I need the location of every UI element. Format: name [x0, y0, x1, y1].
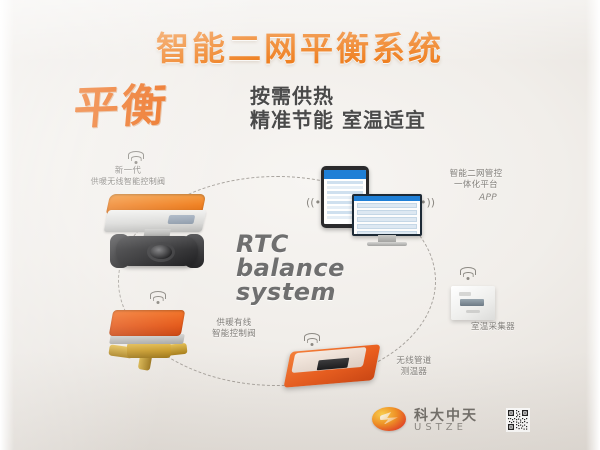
label-platform-app-text: APP — [449, 193, 527, 204]
label-wireless-valve-line2: 供暖无线智能控制阀 — [68, 177, 188, 188]
monitor-row — [357, 210, 417, 215]
center-line-3: system — [236, 280, 386, 304]
center-line-2: balance — [236, 256, 386, 280]
monitor-row — [357, 231, 417, 234]
device-wireless-smart-valve — [100, 190, 216, 268]
subtitle-block: 按需供热 精准节能 室温适宜 — [250, 84, 426, 133]
label-wireless-valve: 新一代 供暖无线智能控制阀 — [68, 166, 188, 187]
subtitle-line-1: 按需供热 — [250, 84, 426, 108]
device-platform-screens — [318, 166, 424, 252]
wifi-icon-wired-valve — [150, 292, 166, 304]
label-pipe-line1: 无线管道 — [374, 356, 454, 367]
valve-brass-body — [127, 342, 171, 358]
label-room-collector-line1: 室温采集器 — [445, 322, 541, 333]
monitor-titlebar — [354, 196, 420, 201]
qr-code-icon[interactable] — [506, 408, 530, 432]
label-room-temp-collector: 室温采集器 — [445, 322, 541, 333]
thermostat-button — [466, 310, 480, 313]
wifi-icon-wireless-valve — [128, 152, 144, 164]
valve-orange-cap — [109, 310, 186, 336]
tablet-row — [327, 186, 363, 189]
monitor-screen — [354, 196, 420, 234]
label-wireless-valve-line1: 新一代 — [68, 166, 188, 177]
thermostat-indicator — [459, 292, 471, 296]
label-pipe-thermometer: 无线管道 测温器 — [374, 356, 454, 377]
label-pipe-line2: 测温器 — [374, 367, 454, 378]
label-wired-valve-line1: 供暖有线 — [188, 318, 280, 329]
page-title: 智能二网平衡系统 — [0, 22, 600, 70]
device-wireless-pipe-thermometer — [288, 344, 380, 388]
wifi-icon-room-collector — [460, 268, 476, 280]
label-wired-valve: 供暖有线 智能控制阀 — [188, 318, 280, 339]
brand-name-latin: USTZE — [414, 422, 467, 433]
label-wired-valve-line2: 智能控制阀 — [188, 329, 280, 340]
desktop-monitor — [352, 194, 422, 236]
monitor-row — [357, 224, 417, 229]
monitor-row — [357, 203, 417, 208]
company-logo-icon — [372, 407, 406, 431]
subtitle-line-2: 精准节能 室温适宜 — [250, 108, 426, 133]
tablet-titlebar — [324, 170, 366, 179]
brand-block: 科大中天 USTZE — [372, 404, 542, 438]
device-room-temp-collector — [451, 286, 495, 320]
left-edge-fade — [0, 0, 14, 450]
tablet-row — [327, 181, 363, 184]
thermostat-display — [460, 299, 484, 306]
poster-canvas: 智能二网平衡系统 平衡 按需供热 精准节能 室温适宜 RTC balance s… — [0, 0, 600, 450]
label-platform-app: 智能二网管控 一体化平台 APP — [425, 169, 527, 204]
monitor-row — [357, 217, 417, 222]
calligraphy-balance: 平衡 — [71, 75, 237, 137]
label-platform-line1: 智能二网管控 — [425, 169, 527, 180]
right-edge-fade — [586, 0, 600, 450]
monitor-base — [367, 242, 407, 246]
valve-bore — [150, 245, 172, 259]
label-platform-line2: 一体化平台 — [425, 180, 527, 191]
